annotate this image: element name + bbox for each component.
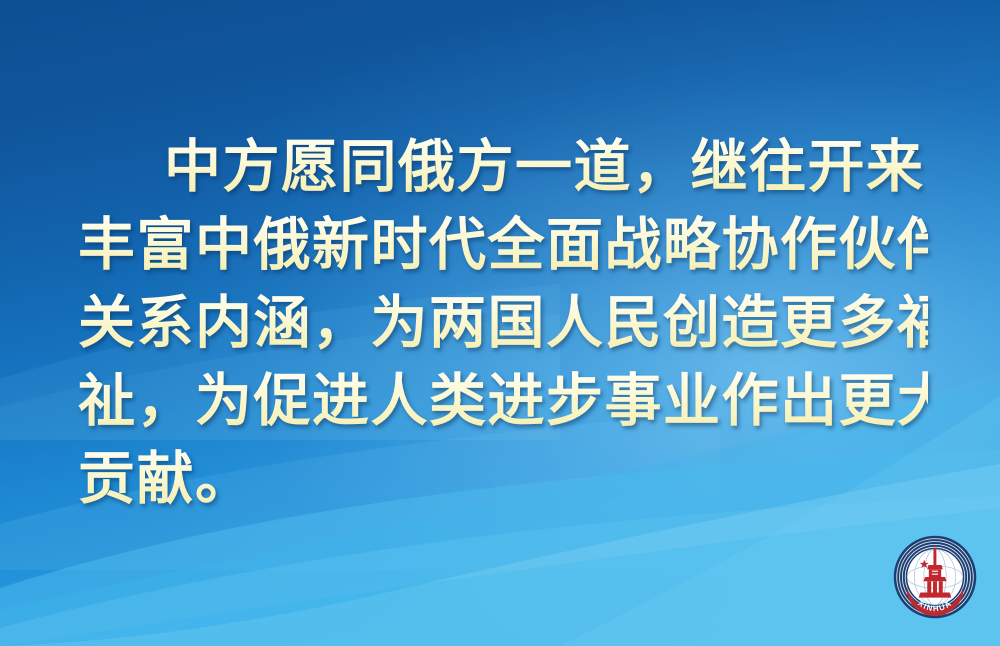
quote-line-4: 祉，为促进人类进步事业作出更大 — [78, 362, 928, 440]
quote-card: 中方愿同俄方一道，继往开来， 丰富中俄新时代全面战略协作伙伴 关系内涵，为两国人… — [0, 0, 1000, 646]
quote-line-1: 中方愿同俄方一道，继往开来， — [78, 128, 928, 206]
quote-line-5: 贡献。 — [78, 440, 928, 518]
quote-line-2: 丰富中俄新时代全面战略协作伙伴 — [78, 206, 928, 284]
quote-text-block: 中方愿同俄方一道，继往开来， 丰富中俄新时代全面战略协作伙伴 关系内涵，为两国人… — [0, 128, 1000, 518]
quote-line-3: 关系内涵，为两国人民创造更多福 — [78, 284, 928, 362]
xinhua-logo-icon: XINHUA — [892, 534, 978, 620]
